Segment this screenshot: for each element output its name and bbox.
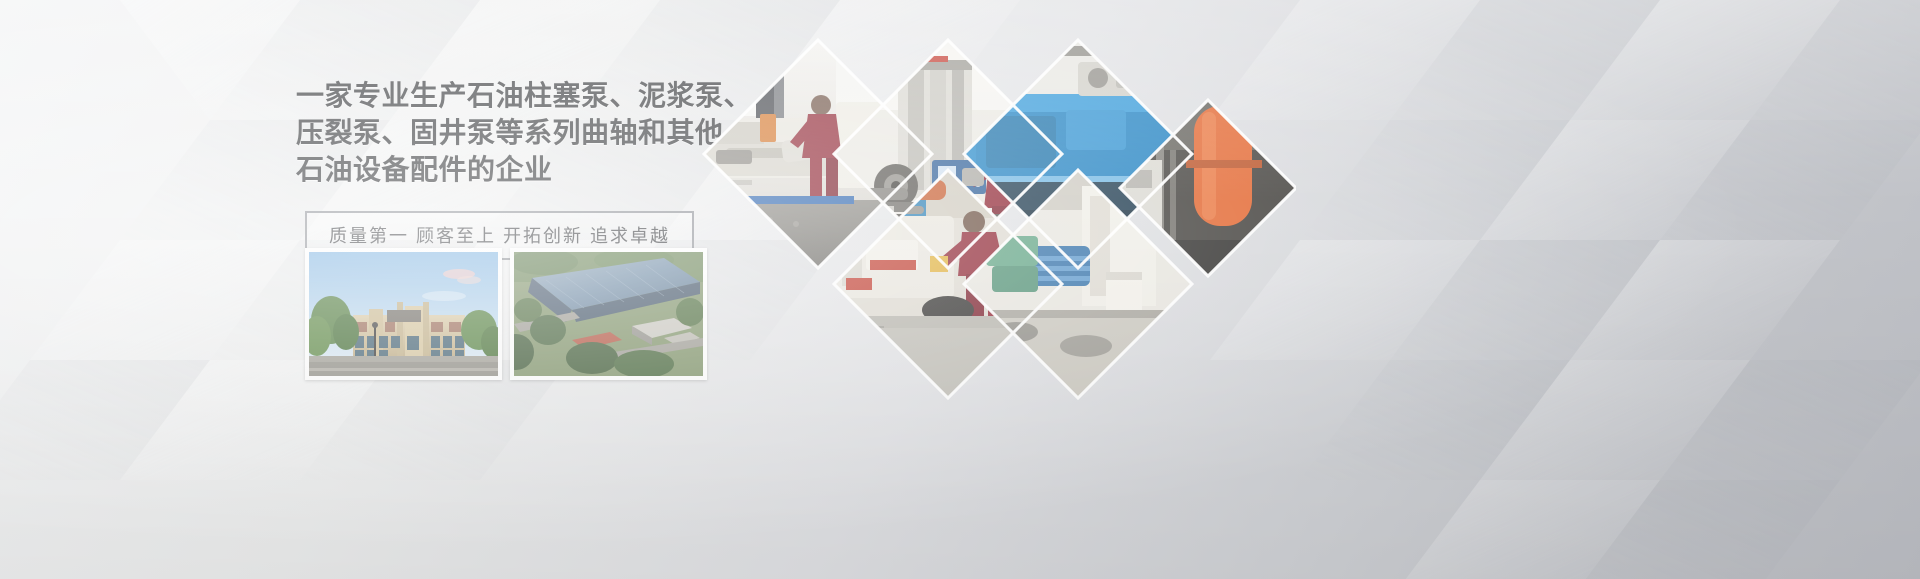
photo-frame-factory[interactable] bbox=[510, 248, 707, 380]
banner-hero: 一家专业生产石油柱塞泵、泥浆泵、 压裂泵、固井泵等系列曲轴和其他 石油设备配件的… bbox=[0, 0, 1920, 579]
page-title: 一家专业生产石油柱塞泵、泥浆泵、 压裂泵、固井泵等系列曲轴和其他 石油设备配件的… bbox=[296, 78, 726, 187]
headline-line-2: 压裂泵、固井泵等系列曲轴和其他 bbox=[296, 115, 726, 150]
office-building-photo bbox=[309, 252, 498, 376]
slogan-text: 质量第一 顾客至上 开拓创新 追求卓越 bbox=[329, 222, 670, 248]
diamond-photo-collage bbox=[686, 10, 1296, 430]
photo-frame-office[interactable] bbox=[305, 248, 502, 380]
headline-line-3: 石油设备配件的企业 bbox=[296, 152, 726, 187]
hero-text-block: 一家专业生产石油柱塞泵、泥浆泵、 压裂泵、固井泵等系列曲轴和其他 石油设备配件的… bbox=[296, 78, 726, 260]
facility-photo-strip bbox=[305, 248, 707, 380]
headline-line-1: 一家专业生产石油柱塞泵、泥浆泵、 bbox=[296, 78, 726, 113]
factory-aerial-photo bbox=[514, 252, 703, 376]
